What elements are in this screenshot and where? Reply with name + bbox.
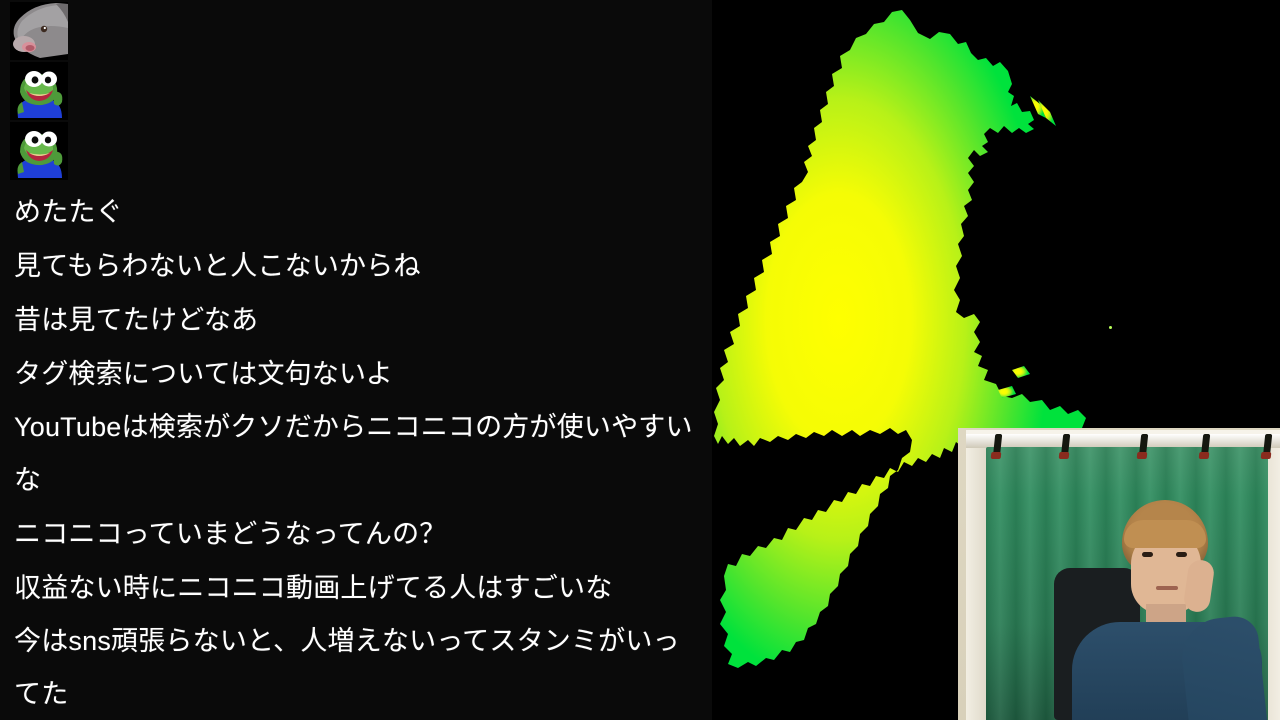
curtain-clip-icon (1139, 434, 1149, 458)
chat-message: タグ検索については文句ないよ (14, 347, 704, 401)
chat-message: YouTubeは検索がクソだからニコニコの方が使いやすいな (14, 401, 704, 507)
webcam-curtain-rail (966, 434, 1280, 448)
chat-message: 昔は見てたけどなあ (14, 293, 704, 347)
pepe-emote (10, 62, 68, 120)
chat-message: 収益ない時にニコニコ動画上げてる人はすごいな (14, 561, 704, 615)
curtain-clip-icon (1061, 434, 1071, 458)
webcam-person (1036, 500, 1280, 720)
pepe-emote (10, 122, 68, 180)
person-arm (1178, 614, 1267, 720)
stream-screen: めたたぐ 見てもらわないと人こないからね 昔は見てたけどなあ タグ検索については… (0, 0, 1280, 720)
fish-emote (10, 2, 68, 60)
person-eye (1176, 552, 1187, 557)
chat-message-list: めたたぐ 見てもらわないと人こないからね 昔は見てたけどなあ タグ検索については… (14, 185, 704, 720)
person-fringe (1124, 520, 1206, 548)
curtain-clip-icon (1263, 434, 1273, 458)
chat-message: めたたぐ (14, 185, 704, 239)
chat-message: 今はsns頑張らないと、人増えないってスタンミがいってた (14, 615, 704, 720)
chat-panel[interactable]: めたたぐ 見てもらわないと人こないからね 昔は見てたけどなあ タグ検索については… (0, 0, 712, 720)
chat-emote-stack (10, 2, 80, 182)
chat-message: ニコニコっていまどうなってんの？ (14, 507, 704, 561)
map-island-dot (1109, 326, 1112, 329)
streamer-webcam[interactable] (958, 428, 1280, 720)
person-eye (1142, 552, 1153, 557)
chat-message: 見てもらわないと人こないからね (14, 239, 704, 293)
curtain-clip-icon (1201, 434, 1211, 458)
curtain-clip-icon (993, 434, 1003, 458)
webcam-door-left-post (966, 438, 988, 720)
person-mouth (1156, 586, 1178, 590)
